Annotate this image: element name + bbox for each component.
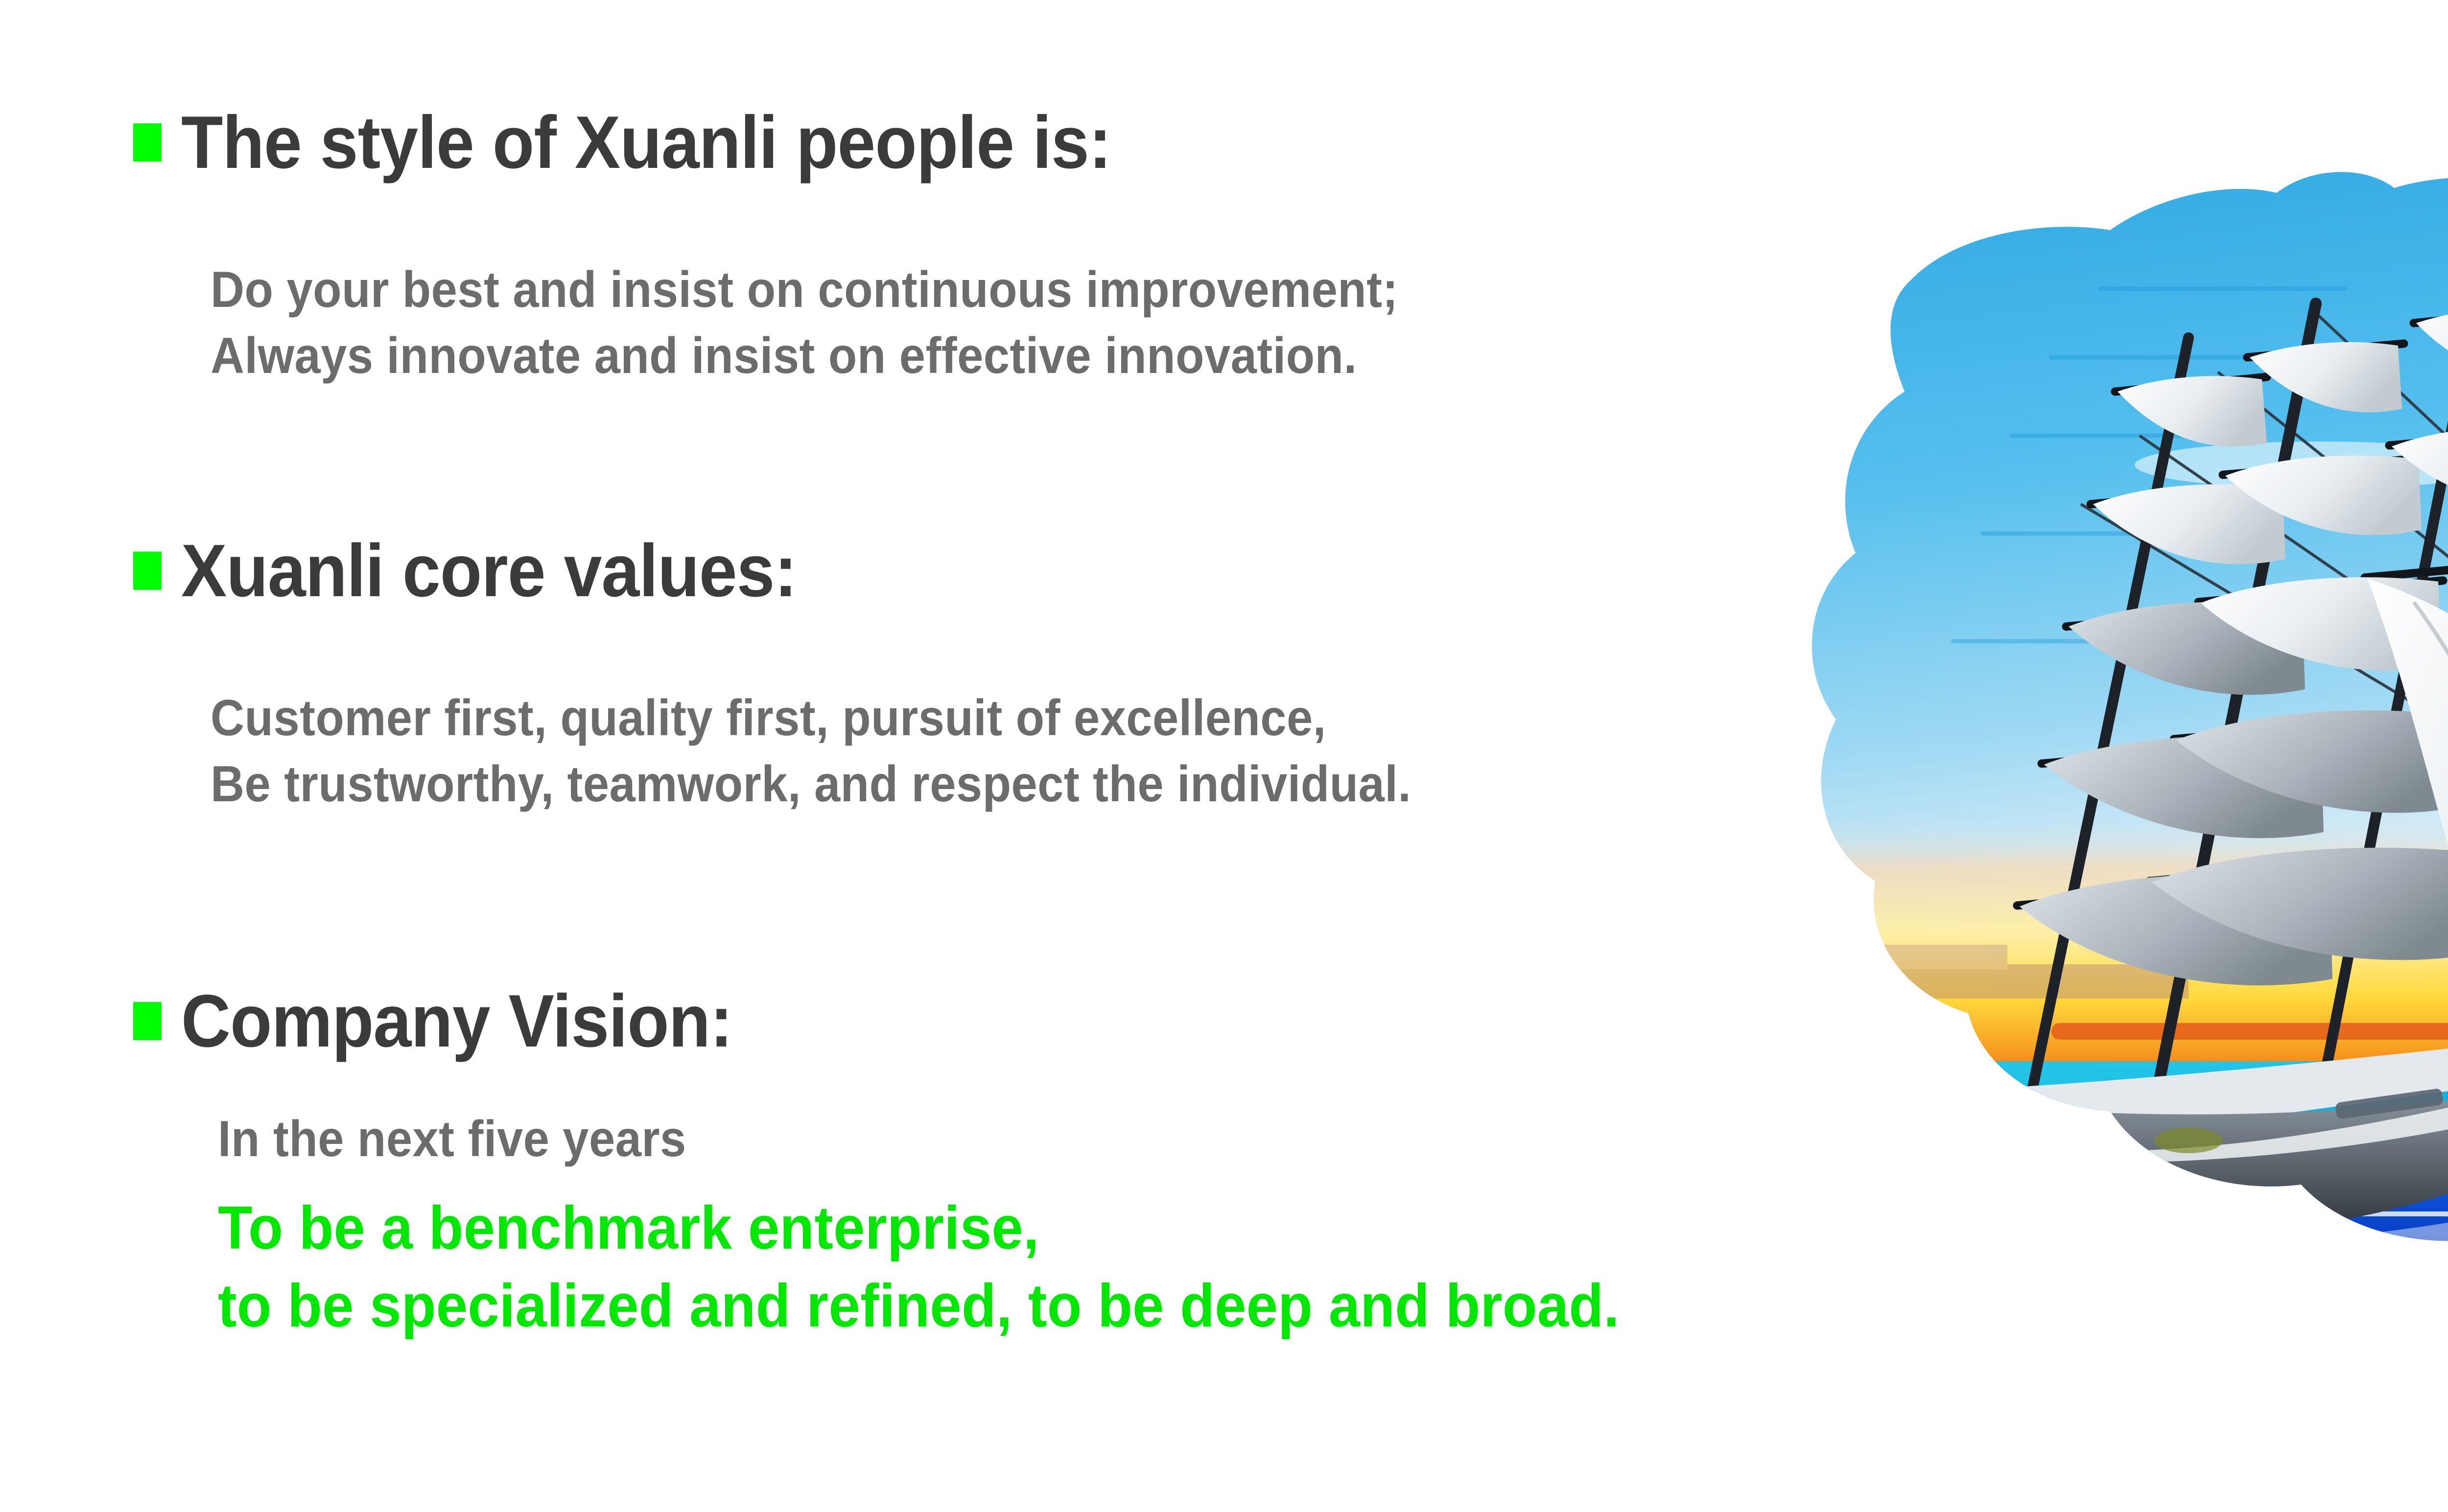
section-3-vision: To be a benchmark enterprise, to be spec… bbox=[218, 1189, 1725, 1345]
text-content: The style of Xuanli people is: Do your b… bbox=[0, 0, 2448, 1512]
slide-canvas: The style of Xuanli people is: Do your b… bbox=[0, 0, 2448, 1512]
section-3-subtitle-text: In the next five years bbox=[218, 1106, 686, 1172]
section-1-heading-row: The style of Xuanli people is: bbox=[133, 105, 1192, 180]
bullet-square-icon bbox=[133, 552, 162, 590]
section-3-vision-line-1: To be a benchmark enterprise, bbox=[218, 1189, 1620, 1267]
section-2-line-1: Customer first, quality first, pursuit o… bbox=[211, 685, 1411, 751]
section-1-line-2: Always innovate and insist on effective … bbox=[211, 323, 1398, 389]
section-3-subtitle: In the next five years bbox=[218, 1106, 727, 1172]
bullet-square-icon bbox=[133, 1002, 162, 1040]
section-3-heading-row: Company Vision: bbox=[133, 984, 780, 1058]
section-2-body: Customer first, quality first, pursuit o… bbox=[211, 685, 1516, 817]
section-2-heading-row: Xuanli core values: bbox=[133, 534, 850, 608]
section-3-heading: Company Vision: bbox=[181, 984, 732, 1058]
section-2-line-2: Be trustworthy, teamwork, and respect th… bbox=[211, 751, 1411, 817]
section-2-heading: Xuanli core values: bbox=[181, 534, 797, 608]
section-1-body: Do your best and insist on continuous im… bbox=[211, 257, 1502, 389]
section-3-vision-line-2: to be specialized and refined, to be dee… bbox=[218, 1267, 1620, 1345]
bullet-square-icon bbox=[133, 123, 162, 162]
section-1-line-1: Do your best and insist on continuous im… bbox=[211, 257, 1398, 323]
section-1-heading: The style of Xuanli people is: bbox=[181, 105, 1111, 180]
